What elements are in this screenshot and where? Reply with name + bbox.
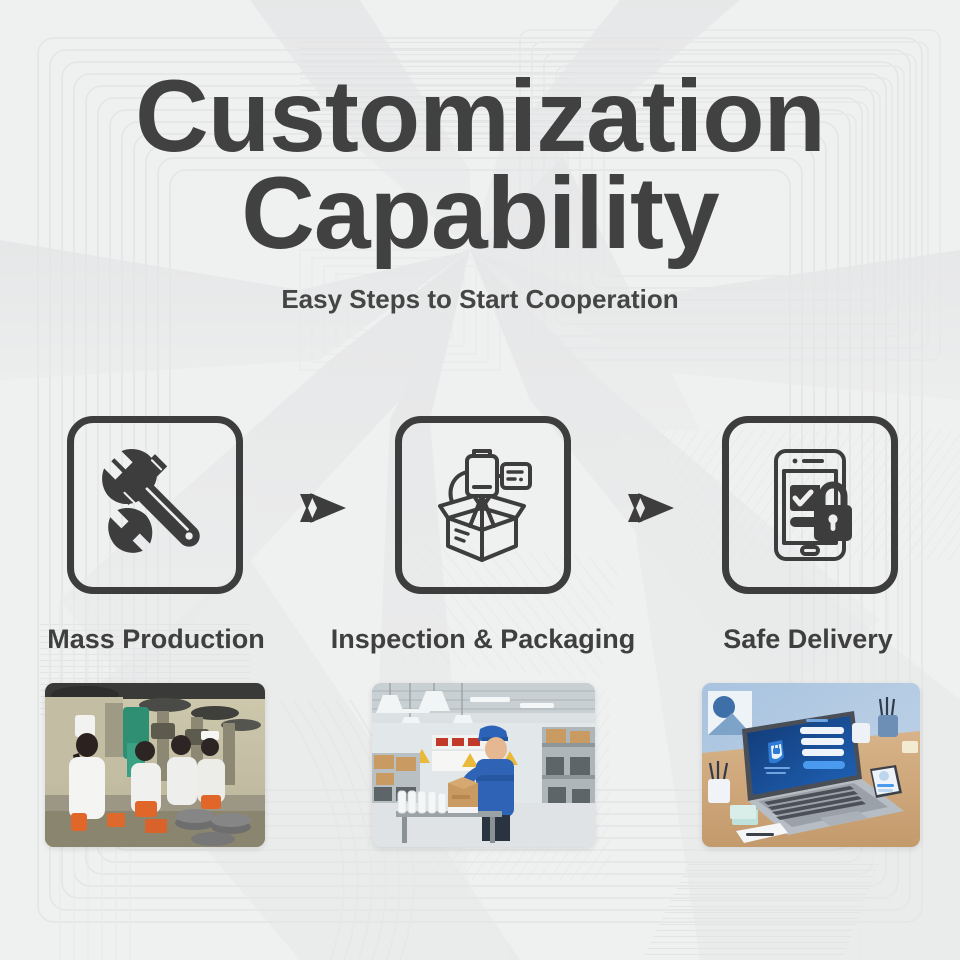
photo-factory-production [45,683,265,847]
step-mass-production[interactable] [67,416,243,594]
step-safe-delivery[interactable] [722,416,898,594]
process-steps-row [0,416,960,596]
arrow-right-icon-1 [296,488,350,528]
photo-laptop-secure-login [702,683,920,847]
step-2-icon-box [395,416,571,594]
header-block: Customization Capability Easy Steps to S… [0,68,960,315]
step-label-safe-delivery: Safe Delivery [652,624,960,655]
infographic-canvas: Customization Capability Easy Steps to S… [0,0,960,960]
step-label-inspection-packaging: Inspection & Packaging [324,624,642,655]
phone-lock-parcel-icon [748,443,872,567]
crossed-wrenches-icon [94,444,216,566]
lock-icon [814,485,852,541]
step-inspection-packaging[interactable] [395,416,571,594]
step-label-mass-production: Mass Production [0,624,312,655]
photo-warehouse-packing [372,683,595,847]
page-title-line-1: Customization [0,68,960,165]
page-title-line-2: Capability [0,165,960,262]
step-3-icon-box [722,416,898,594]
page-subtitle: Easy Steps to Start Cooperation [0,284,960,315]
step-labels-row: Mass Production Inspection & Packaging S… [0,624,960,664]
step-1-icon-box [67,416,243,594]
step-photos-row [0,683,960,847]
arrow-right-icon-2 [624,488,678,528]
box-scanner-icon [420,442,546,568]
